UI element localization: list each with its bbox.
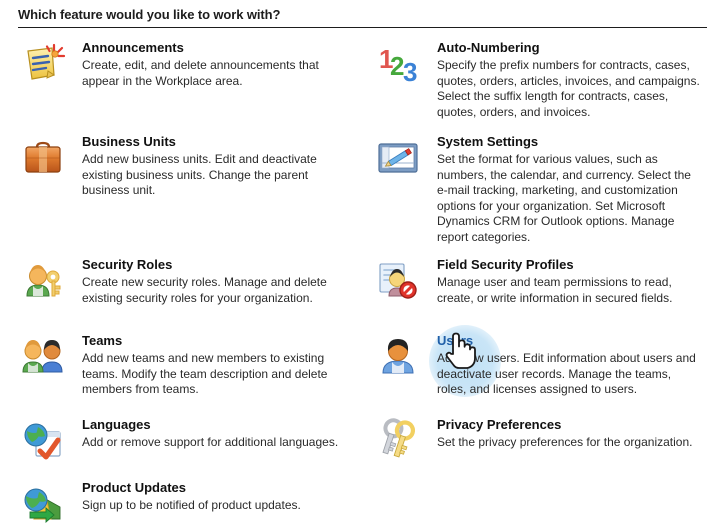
feature-text: Announcements Create, edit, and delete a… [82,39,345,89]
svg-text:3: 3 [403,57,417,87]
feature-title[interactable]: System Settings [437,134,538,149]
feature-title[interactable]: Business Units [82,134,176,149]
feature-description: Add or remove support for additional lan… [82,435,345,451]
feature-title[interactable]: Announcements [82,40,184,55]
feature-description: Set the format for various values, such … [437,152,703,245]
feature-item-security-roles[interactable]: Security Roles Create new security roles… [0,245,355,321]
business-units-icon [18,133,68,185]
feature-item-announcements[interactable]: Announcements Create, edit, and delete a… [0,28,355,122]
auto-numbering-icon: 1 2 3 [373,39,423,91]
feature-description: Add new business units. Edit and deactiv… [82,152,345,199]
feature-title[interactable]: Languages [82,417,151,432]
feature-text: Product Updates Sign up to be notified o… [82,479,345,514]
feature-item-system-settings[interactable]: System Settings Set the format for vario… [355,122,713,245]
feature-description: Specify the prefix numbers for contracts… [437,58,703,120]
feature-item-product-updates[interactable]: Product Updates Sign up to be notified o… [0,468,355,531]
feature-text: Languages Add or remove support for addi… [82,416,345,451]
feature-item-business-units[interactable]: Business Units Add new business units. E… [0,122,355,245]
feature-title[interactable]: Field Security Profiles [437,257,574,272]
feature-text: Business Units Add new business units. E… [82,133,345,199]
product-updates-icon [18,479,68,531]
feature-description: Sign up to be notified of product update… [82,498,345,514]
feature-description: Set the privacy preferences for the orga… [437,435,703,451]
feature-title[interactable]: Users [437,333,473,348]
feature-text: Teams Add new teams and new members to e… [82,332,345,398]
feature-title[interactable]: Teams [82,333,122,348]
feature-description: Add new users. Edit information about us… [437,351,703,398]
feature-title[interactable]: Product Updates [82,480,186,495]
feature-item-users[interactable]: Users Add new users. Edit information ab… [355,321,713,405]
feature-item-field-security-profiles[interactable]: Field Security Profiles Manage user and … [355,245,713,321]
system-settings-icon [373,133,423,185]
security-roles-icon [18,256,68,308]
feature-item-languages[interactable]: Languages Add or remove support for addi… [0,405,355,468]
privacy-preferences-icon [373,416,423,468]
feature-description: Create new security roles. Manage and de… [82,275,345,306]
field-security-profiles-icon [373,256,423,308]
users-icon [373,332,423,384]
feature-text: System Settings Set the format for vario… [437,133,703,245]
feature-description: Create, edit, and delete announcements t… [82,58,345,89]
announcements-icon [18,39,68,91]
feature-title[interactable]: Privacy Preferences [437,417,561,432]
page-title: Which feature would you like to work wit… [0,0,713,22]
feature-item-auto-numbering[interactable]: 1 2 3 Auto-Numbering Specify the prefix … [355,28,713,122]
languages-icon [18,416,68,468]
feature-item-privacy-preferences[interactable]: Privacy Preferences Set the privacy pref… [355,405,713,468]
feature-description: Manage user and team permissions to read… [437,275,703,306]
feature-text: Privacy Preferences Set the privacy pref… [437,416,703,451]
settings-page: Which feature would you like to work wit… [0,0,713,528]
teams-icon [18,332,68,384]
feature-grid: Announcements Create, edit, and delete a… [0,28,713,531]
feature-description: Add new teams and new members to existin… [82,351,345,398]
feature-title[interactable]: Security Roles [82,257,172,272]
feature-title[interactable]: Auto-Numbering [437,40,540,55]
feature-item-teams[interactable]: Teams Add new teams and new members to e… [0,321,355,405]
feature-text: Users Add new users. Edit information ab… [437,332,703,398]
feature-text: Auto-Numbering Specify the prefix number… [437,39,703,120]
feature-text: Field Security Profiles Manage user and … [437,256,703,306]
feature-text: Security Roles Create new security roles… [82,256,345,306]
